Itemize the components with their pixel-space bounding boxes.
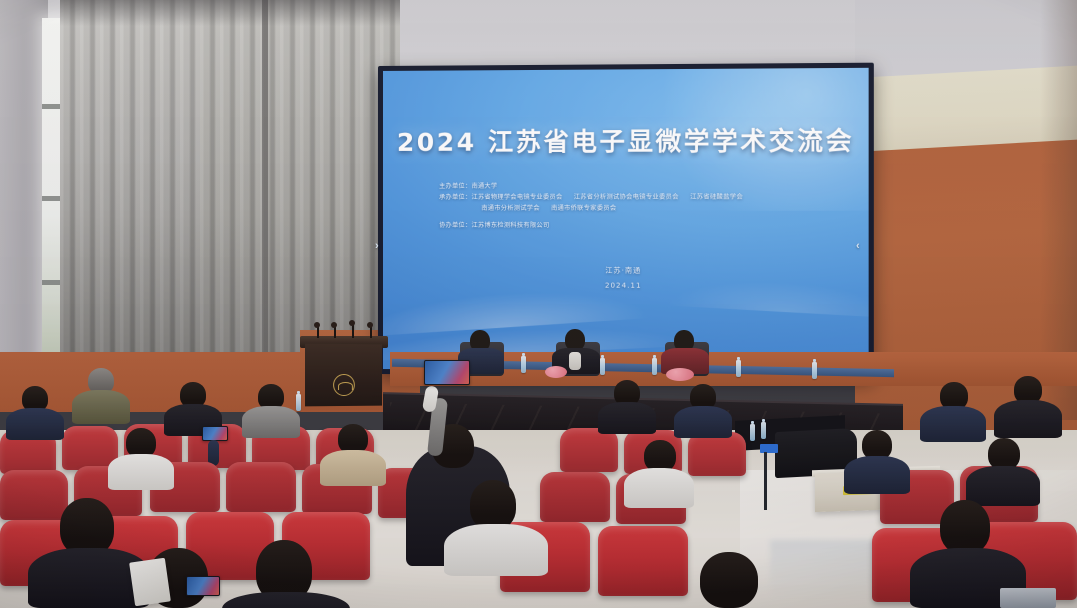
stage-sign-badge: [760, 444, 778, 453]
microphone-head-icon: [349, 320, 355, 326]
seat: [0, 470, 68, 520]
smartphone[interactable]: [424, 360, 470, 385]
podium: [305, 344, 382, 407]
smartphone-screen: [203, 427, 227, 440]
organizer-line: 主办单位：南通大学: [439, 180, 827, 192]
slide-organizer-block: 主办单位：南通大学 承办单位：江苏省物理学会电镜专业委员会江苏省分析测试协会电镜…: [439, 180, 827, 231]
seat: [560, 428, 618, 472]
stand-pole: [764, 452, 767, 510]
organizer-line: 南通市分析测试学会南通市侨联专家委员会: [439, 203, 827, 214]
seat: [226, 462, 296, 512]
organizer-name: 南通大学: [471, 183, 497, 190]
microphone-head-icon: [314, 322, 320, 328]
smartphone-screen: [425, 361, 469, 384]
program-booklet: [129, 558, 171, 607]
slide-date: 2024.11: [383, 278, 869, 295]
left-wall-column: [0, 0, 48, 395]
water-bottle: [750, 424, 755, 441]
organizer-name: 江苏博东检测科技有限公司: [471, 222, 549, 229]
projection-screen: 2024 江苏省电子显微学学术交流会 主办单位：南通大学 承办单位：江苏省物理学…: [383, 68, 869, 372]
organizer-role: 承办单位：: [439, 194, 471, 201]
table-flower-arrangement: [666, 368, 694, 381]
smartphone-screen: [187, 577, 219, 595]
organizer-name: 江苏省分析测试协会电镜专业委员会: [574, 194, 679, 201]
seat: [598, 526, 688, 596]
organizer-role: 协办单位：: [439, 222, 471, 229]
water-bottle: [812, 362, 817, 379]
smartphone[interactable]: [202, 426, 228, 441]
slide-title: 2024 江苏省电子显微学学术交流会: [383, 121, 869, 159]
organizer-line: 承办单位：江苏省物理学会电镜专业委员会江苏省分析测试协会电镜专业委员会江苏省硅酸…: [439, 191, 827, 203]
seat: [688, 432, 746, 476]
organizer-role: 主办单位：: [439, 183, 471, 190]
curtain-top-shadow: [60, 0, 400, 26]
slide-footer: 江苏·南通 2024.11: [383, 263, 869, 295]
table-flower-arrangement: [545, 366, 567, 378]
podium-crest-icon: [333, 374, 355, 396]
seat: [540, 472, 610, 522]
projection-screen-frame: 2024 江苏省电子显微学学术交流会 主办单位：南通大学 承办单位：江苏省物理学…: [378, 63, 874, 378]
smartphone[interactable]: [186, 576, 220, 596]
organizer-name: 江苏省硅酸盐学会: [690, 194, 743, 201]
conference-hall-photo: 2024 江苏省电子显微学学术交流会 主办单位：南通大学 承办单位：江苏省物理学…: [0, 0, 1077, 608]
organizer-line: 协办单位：江苏博东检测科技有限公司: [439, 220, 827, 231]
organizer-name: 南通市侨联专家委员会: [551, 205, 616, 212]
water-bottle: [296, 394, 301, 411]
microphone-head-icon: [331, 322, 337, 328]
organizer-name: 南通市分析测试学会: [481, 205, 540, 212]
screen-left-arrow-icon: ›: [375, 240, 379, 252]
water-bottle: [600, 358, 605, 375]
microphone-stem: [352, 324, 354, 338]
organizer-name: 江苏省物理学会电镜专业委员会: [471, 194, 562, 201]
tablet-device[interactable]: [1000, 588, 1056, 608]
water-bottle: [736, 360, 741, 377]
slide-location: 江苏·南通: [383, 263, 869, 279]
screen-right-arrow-icon: ‹: [856, 240, 860, 252]
water-bottle: [652, 358, 657, 375]
water-bottle: [761, 422, 766, 439]
water-bottle: [521, 356, 526, 373]
microphone-head-icon: [367, 322, 373, 328]
